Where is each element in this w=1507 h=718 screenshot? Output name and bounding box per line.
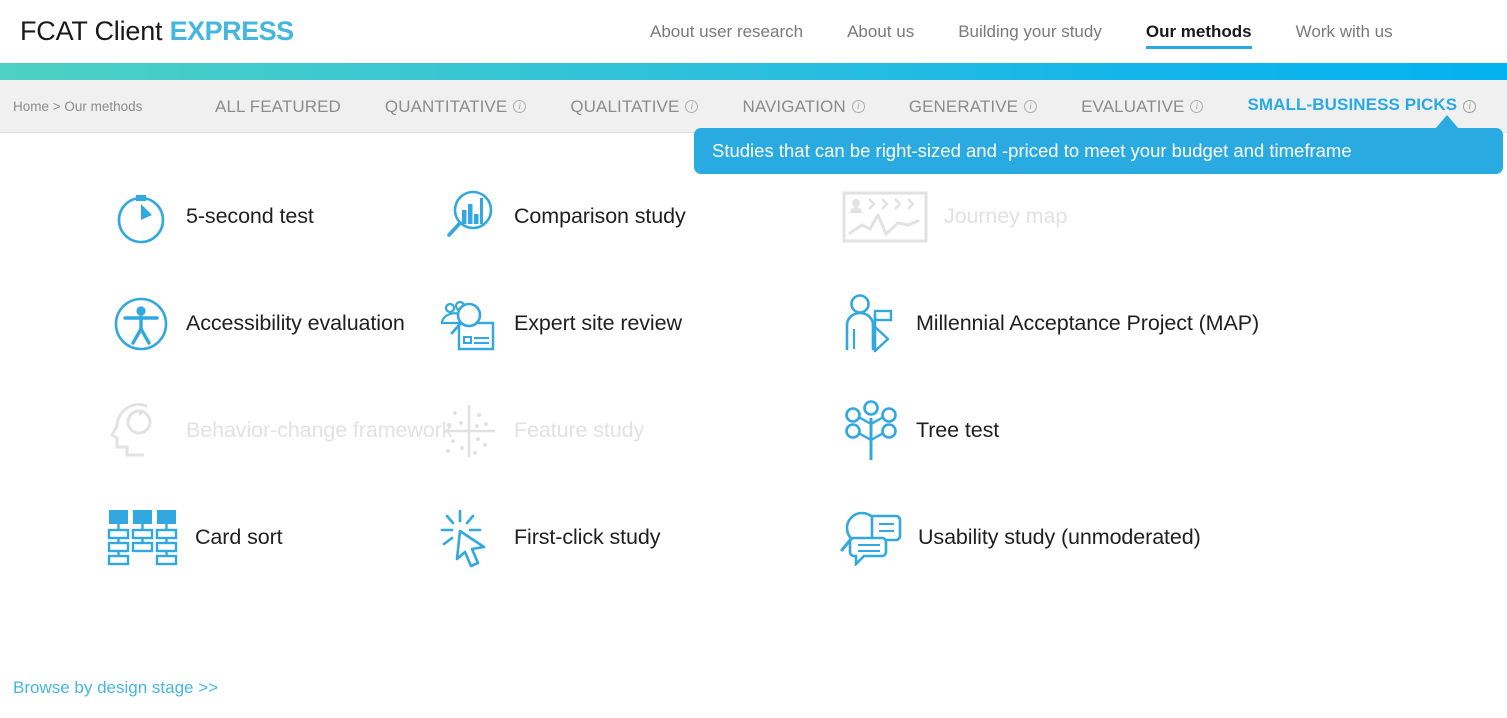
head-refresh-icon xyxy=(110,400,172,462)
tree-nodes-icon xyxy=(840,400,902,462)
method-label: Usability study (unmoderated) xyxy=(918,525,1201,550)
person-flag-icon xyxy=(840,293,902,355)
method-label: Millennial Acceptance Project (MAP) xyxy=(916,311,1259,336)
tab-label: SMALL-BUSINESS PICKS xyxy=(1247,82,1457,131)
magnifier-chat-icon xyxy=(840,507,904,569)
method-card-5-second-test[interactable]: 5-second test xyxy=(0,186,420,248)
tab-label: ALL FEATURED xyxy=(215,80,341,133)
info-icon[interactable]: i xyxy=(1190,100,1203,113)
info-icon[interactable]: i xyxy=(685,100,698,113)
method-label: Expert site review xyxy=(514,311,682,336)
tab-label: NAVIGATION xyxy=(742,80,845,133)
category-tab-bar: Home > Our methods ALL FEATURED QUANTITA… xyxy=(0,80,1507,133)
method-card-usability-study[interactable]: Usability study (unmoderated) xyxy=(820,507,1420,569)
browse-by-design-stage-link[interactable]: Browse by design stage >> xyxy=(13,678,218,698)
cursor-click-icon xyxy=(438,507,500,569)
method-card-tree-test[interactable]: Tree test xyxy=(820,400,1420,462)
methods-row: 5-second test Comparison study xyxy=(0,163,1507,270)
brand-primary-text: FCAT Client xyxy=(20,16,170,46)
method-card-card-sort[interactable]: Card sort xyxy=(0,507,420,569)
tab-qualitative[interactable]: QUALITATIVE i xyxy=(548,80,720,133)
method-label: Behavior-change framework xyxy=(186,418,452,443)
method-label: Comparison study xyxy=(514,204,686,229)
tab-label: EVALUATIVE xyxy=(1081,80,1184,133)
method-card-accessibility-evaluation[interactable]: Accessibility evaluation xyxy=(0,293,420,355)
nav-item-about-user-research[interactable]: About user research xyxy=(628,0,825,63)
tab-label: QUANTITATIVE xyxy=(385,80,507,133)
info-icon[interactable]: i xyxy=(1024,100,1037,113)
journey-map-icon xyxy=(840,186,930,248)
tab-all-featured[interactable]: ALL FEATURED xyxy=(193,80,363,133)
tooltip-arrow xyxy=(1435,115,1459,129)
methods-row: Behavior-change framework xyxy=(0,377,1507,484)
nav-item-work-with-us[interactable]: Work with us xyxy=(1274,0,1415,63)
tab-quantitative[interactable]: QUANTITATIVE i xyxy=(363,80,548,133)
method-label: 5-second test xyxy=(186,204,314,229)
gradient-divider xyxy=(0,63,1507,80)
accessibility-icon xyxy=(110,293,172,355)
method-card-behavior-change-framework: Behavior-change framework xyxy=(0,400,420,462)
tab-evaluative[interactable]: EVALUATIVE i xyxy=(1059,80,1225,133)
top-header: FCAT Client EXPRESS About user research … xyxy=(0,0,1507,63)
brand-logo[interactable]: FCAT Client EXPRESS xyxy=(20,16,294,47)
card-sort-icon xyxy=(107,507,181,569)
method-label: Tree test xyxy=(916,418,999,443)
methods-row: Card sort First-click study xyxy=(0,484,1507,591)
method-card-journey-map: Journey map xyxy=(820,186,1420,248)
tooltip-text: Studies that can be right-sized and -pri… xyxy=(712,140,1352,162)
tab-navigation[interactable]: NAVIGATION i xyxy=(720,80,886,133)
tab-label: GENERATIVE xyxy=(909,80,1018,133)
breadcrumb[interactable]: Home > Our methods xyxy=(13,99,193,114)
methods-row: Accessibility evaluation Expert site rev… xyxy=(0,270,1507,377)
methods-grid: 5-second test Comparison study xyxy=(0,133,1507,591)
tabs-container: ALL FEATURED QUANTITATIVE i QUALITATIVE … xyxy=(193,80,1498,133)
nav-item-about-us[interactable]: About us xyxy=(825,0,936,63)
stopwatch-icon xyxy=(110,186,172,248)
method-card-expert-site-review[interactable]: Expert site review xyxy=(420,293,820,355)
method-card-feature-study: Feature study xyxy=(420,400,820,462)
magnifier-bars-icon xyxy=(438,186,500,248)
main-navigation: About user research About us Building yo… xyxy=(628,0,1415,63)
method-label: Card sort xyxy=(195,525,283,550)
brand-accent-text: EXPRESS xyxy=(170,16,294,46)
method-card-comparison-study[interactable]: Comparison study xyxy=(420,186,820,248)
nav-item-building-your-study[interactable]: Building your study xyxy=(936,0,1124,63)
info-icon[interactable]: i xyxy=(513,100,526,113)
info-icon[interactable]: i xyxy=(1463,100,1476,113)
method-label: Accessibility evaluation xyxy=(186,311,405,336)
method-card-first-click-study[interactable]: First-click study xyxy=(420,507,820,569)
expert-review-icon xyxy=(438,293,500,355)
tooltip-small-business-picks: Studies that can be right-sized and -pri… xyxy=(694,128,1503,174)
scatter-quadrant-icon xyxy=(438,400,500,462)
info-icon[interactable]: i xyxy=(852,100,865,113)
tab-generative[interactable]: GENERATIVE i xyxy=(887,80,1059,133)
nav-item-our-methods[interactable]: Our methods xyxy=(1124,0,1274,63)
method-label: Journey map xyxy=(944,204,1067,229)
method-card-millennial-acceptance-project[interactable]: Millennial Acceptance Project (MAP) xyxy=(820,293,1420,355)
tab-label: QUALITATIVE xyxy=(570,80,679,133)
method-label: Feature study xyxy=(514,418,644,443)
method-label: First-click study xyxy=(514,525,660,550)
